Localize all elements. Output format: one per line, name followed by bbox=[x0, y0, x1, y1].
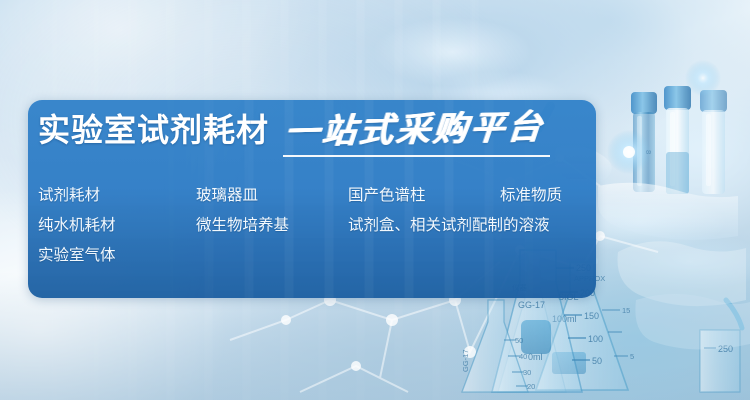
category-row: 纯水机耗材 微生物培养基 试剂盒、相关试剂配制的溶液 bbox=[38, 211, 598, 241]
category-item-reagent-kits-and-solutions[interactable]: 试剂盒、相关试剂配制的溶液 bbox=[348, 211, 550, 241]
gloved-fingers-lower bbox=[618, 241, 750, 349]
svg-text:8: 8 bbox=[644, 150, 653, 154]
category-item-water-purifier-consumables[interactable]: 纯水机耗材 bbox=[38, 211, 116, 241]
category-item-glassware[interactable]: 玻璃器皿 bbox=[196, 181, 258, 211]
svg-text:150: 150 bbox=[584, 311, 599, 321]
category-item-reference-material[interactable]: 标准物质 bbox=[500, 181, 562, 211]
category-item-microbial-culture-media[interactable]: 微生物培养基 bbox=[196, 211, 289, 241]
category-item-domestic-chromatography-column[interactable]: 国产色谱柱 bbox=[348, 181, 426, 211]
category-item-laboratory-gases[interactable]: 实验室气体 bbox=[38, 241, 116, 271]
svg-text:30: 30 bbox=[523, 368, 531, 377]
svg-text:5: 5 bbox=[630, 352, 634, 361]
svg-text:50: 50 bbox=[515, 336, 523, 345]
svg-text:GG-17: GG-17 bbox=[461, 349, 470, 372]
svg-text:100: 100 bbox=[588, 334, 603, 344]
category-grid: 试剂耗材 玻璃器皿 国产色谱柱 标准物质 纯水机耗材 微生物培养基 试剂盒、相关… bbox=[38, 181, 598, 271]
svg-text:GG-17: GG-17 bbox=[518, 300, 545, 310]
headline-script-wrap: 一站式采购平台 bbox=[285, 113, 544, 157]
svg-text:250: 250 bbox=[718, 344, 733, 354]
svg-text:0ml: 0ml bbox=[528, 352, 543, 362]
graduated-cylinder: 250 bbox=[700, 300, 742, 392]
svg-text:15: 15 bbox=[622, 306, 630, 315]
headline-main-text: 实验室试剂耗材 bbox=[38, 114, 269, 146]
small-flask-graduated: 50 40 30 20 GG-17 bbox=[461, 300, 535, 392]
category-item-reagent-consumables[interactable]: 试剂耗材 bbox=[38, 181, 100, 211]
headline-script-text: 一站式采购平台 bbox=[283, 110, 545, 149]
headline-underline-rule bbox=[283, 155, 550, 157]
svg-text:40: 40 bbox=[519, 352, 527, 361]
svg-text:20: 20 bbox=[527, 382, 535, 391]
category-row: 试剂耗材 玻璃器皿 国产色谱柱 标准物质 bbox=[38, 181, 598, 211]
svg-text:100ml: 100ml bbox=[552, 314, 577, 324]
promo-banner: 8 bbox=[0, 0, 750, 400]
svg-text:50: 50 bbox=[592, 356, 602, 366]
headline: 实验室试剂耗材 一站式采购平台 bbox=[38, 113, 544, 157]
category-row: 实验室气体 bbox=[38, 241, 598, 271]
